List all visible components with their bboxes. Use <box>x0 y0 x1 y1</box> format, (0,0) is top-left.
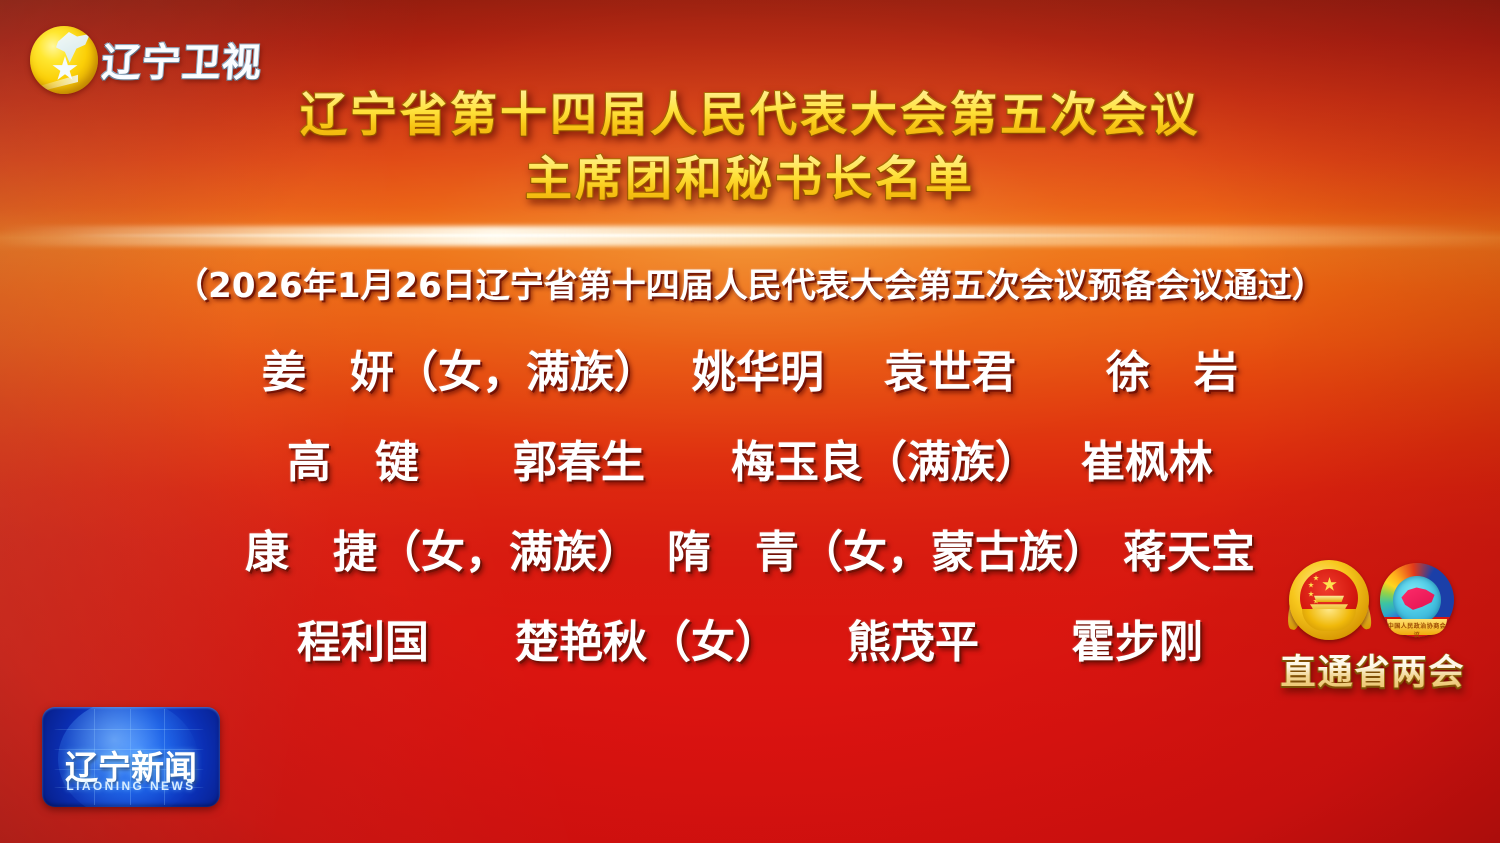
emblem-tiananmen-roof <box>1314 595 1344 602</box>
program-bug: 中国人民政治协商会议 直通省两会 <box>1268 560 1478 695</box>
name-cell: 霍步刚 <box>1071 606 1203 670</box>
cppcc-globe-disc <box>1393 576 1441 624</box>
name-row: 高 键 郭春生 梅玉良（满族） 崔枫林 <box>0 426 1500 516</box>
cppcc-emblem-icon: 中国人民政治协商会议 <box>1377 560 1457 640</box>
name-cell: 徐 岩 <box>1106 336 1238 400</box>
name-cell: 高 键 <box>287 426 419 490</box>
name-cell: 熊茂平 <box>847 606 979 670</box>
subtitle-passed-note: （2026年1月26日辽宁省第十四届人民代表大会第五次会议预备会议通过） <box>0 258 1500 307</box>
news-bug-title-en: LIAONING NEWS <box>42 779 220 793</box>
name-cell: 袁世君 <box>884 336 1016 400</box>
name-cell: 楚艳秋（女） <box>515 606 779 670</box>
channel-name-label: 辽宁卫视 <box>100 32 264 88</box>
name-cell: 崔枫林 <box>1081 426 1213 490</box>
name-cell: 姚华明 <box>692 336 824 400</box>
star-trail-shape <box>36 73 78 91</box>
name-cell: 康 捷（女，满族） <box>245 516 641 580</box>
channel-logo: 辽宁卫视 <box>30 26 262 94</box>
npc-national-emblem-icon <box>1289 560 1369 640</box>
headline-line-2: 主席团和秘书长名单 <box>0 148 1500 212</box>
name-cell: 蒋天宝 <box>1123 516 1255 580</box>
emblem-pair: 中国人民政治协商会议 <box>1289 560 1457 640</box>
name-cell: 程利国 <box>297 606 429 670</box>
broadcast-screen: 辽宁卫视 辽宁省第十四届人民代表大会第五次会议 主席团和秘书长名单 （2026年… <box>0 0 1500 843</box>
news-program-bug: 辽宁新闻 LIAONING NEWS <box>42 707 220 807</box>
backdrop-light-streak <box>0 226 1500 246</box>
globe-star-icon <box>30 26 98 94</box>
globe-latitude-line <box>54 729 204 730</box>
globe-continent-shape <box>56 32 90 64</box>
cppcc-china-map <box>1400 586 1436 612</box>
name-cell: 隋 青（女，蒙古族） <box>667 516 1107 580</box>
name-cell: 姜 妍（女，满族） <box>262 336 658 400</box>
name-row: 姜 妍（女，满族） 姚华明 袁世君 徐 岩 <box>0 336 1500 426</box>
name-cell: 郭春生 <box>513 426 645 490</box>
program-bug-label: 直通省两会 <box>1280 644 1465 695</box>
headline-block: 辽宁省第十四届人民代表大会第五次会议 主席团和秘书长名单 <box>0 84 1500 212</box>
cppcc-ribbon: 中国人民政治协商会议 <box>1387 619 1447 635</box>
cppcc-ribbon-label: 中国人民政治协商会议 <box>1387 621 1447 639</box>
name-cell: 梅玉良（满族） <box>731 426 1039 490</box>
backdrop-light-streak-core <box>60 234 1230 237</box>
